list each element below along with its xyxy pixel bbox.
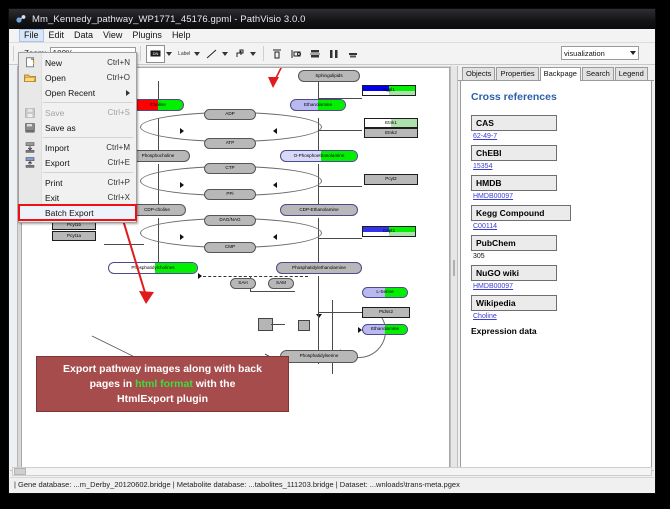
- xref-link[interactable]: HMDB00097: [473, 193, 643, 200]
- node-o-phosphoethanolamine[interactable]: O-Phosphoethanolamine: [280, 150, 358, 162]
- node-label: Ptdss2: [379, 310, 393, 315]
- xref-source: CAS: [471, 115, 557, 131]
- edge: [318, 130, 362, 131]
- xref-kegg-compound: Kegg Compound C00114: [471, 205, 643, 230]
- menu-item-shortcut: Ctrl+X: [108, 193, 136, 202]
- node-label: Etnk1: [385, 121, 397, 126]
- line-tool-button[interactable]: [204, 46, 221, 62]
- title-bar: Mm_Kennedy_pathway_WP1771_45176.gpml - P…: [9, 9, 655, 29]
- node-atp[interactable]: ATP: [204, 138, 256, 149]
- menu-item-export[interactable]: Export Ctrl+E: [19, 155, 136, 170]
- node-label: CTP: [225, 166, 234, 171]
- node-cmp[interactable]: CMP: [204, 242, 256, 253]
- node-label: Ethanolamine: [304, 103, 332, 108]
- pathvisio-app-icon: [15, 13, 27, 25]
- tab-legend[interactable]: Legend: [615, 67, 648, 80]
- node-label: CDP-Ethanolamine: [299, 208, 338, 213]
- callout-line2-after: with the: [193, 378, 236, 390]
- arrow-icon: [180, 182, 184, 188]
- menu-item-shortcut: Ctrl+M: [106, 143, 136, 152]
- node-label: CDP-choline: [144, 208, 170, 213]
- menu-item-save-as[interactable]: Save as: [19, 120, 136, 135]
- callout-line3: HtmlExport plugin: [117, 393, 208, 405]
- node-label: L-Serine: [376, 290, 393, 295]
- arrow-icon: [198, 273, 202, 279]
- edge: [104, 244, 144, 245]
- chevron-down-icon: [630, 51, 636, 55]
- node-choline-top[interactable]: Choline: [132, 99, 184, 111]
- xref-chebi: ChEBI 15354: [471, 145, 643, 170]
- arrow-icon: [180, 128, 184, 134]
- node-label: Etnk2: [385, 131, 397, 136]
- xref-value: 305: [473, 253, 643, 260]
- menu-item-label: New: [41, 58, 107, 68]
- node-label: ADP: [225, 112, 234, 117]
- arrow-icon: [273, 234, 277, 240]
- callout-line1: Export pathway images along with back: [63, 363, 262, 375]
- xref-link[interactable]: HMDB00097: [473, 283, 643, 290]
- export-icon: [19, 157, 41, 168]
- node-sphingolipids[interactable]: Sphingolipids: [298, 70, 360, 82]
- xref-link[interactable]: 15354: [473, 163, 643, 170]
- xref-pubchem: PubChem 305: [471, 235, 643, 260]
- menu-help[interactable]: Help: [167, 29, 196, 42]
- menu-item-shortcut: Ctrl+P: [108, 178, 136, 187]
- side-panel: Objects Properties Backpage Search Legen…: [458, 66, 654, 470]
- new-document-icon: [19, 57, 41, 68]
- menu-plugins[interactable]: Plugins: [127, 29, 167, 42]
- node-l-serine[interactable]: L-Serine: [362, 287, 408, 298]
- datanode-tool-button[interactable]: DN: [146, 45, 165, 63]
- tab-properties[interactable]: Properties: [496, 67, 538, 80]
- node-etnk1[interactable]: Etnk1: [364, 118, 418, 128]
- node-sah[interactable]: SAH: [230, 278, 256, 289]
- xref-link[interactable]: Choline: [473, 313, 643, 320]
- node-sgpl1[interactable]: Sgpl1: [362, 85, 416, 96]
- label-tool-button[interactable]: Label: [176, 46, 193, 62]
- node-ptdss2[interactable]: Ptdss2: [362, 307, 410, 318]
- menu-item-open-recent[interactable]: Open Recent: [19, 85, 136, 100]
- menu-item-print[interactable]: Print Ctrl+P: [19, 175, 136, 190]
- xref-source: Wikipedia: [471, 295, 557, 311]
- menu-item-label: Save: [41, 108, 108, 118]
- menu-edit[interactable]: Edit: [44, 29, 70, 42]
- menu-item-batch-export[interactable]: Batch Export: [19, 205, 136, 220]
- xref-source: NuGO wiki: [471, 265, 557, 281]
- node-ctp[interactable]: CTP: [204, 163, 256, 174]
- menu-item-save[interactable]: Save Ctrl+S: [19, 105, 136, 120]
- node-label: O-Phosphoethanolamine: [294, 154, 345, 159]
- node-label: ATP: [226, 141, 235, 146]
- node-sam[interactable]: SAM: [268, 278, 294, 289]
- xref-source: Kegg Compound: [471, 205, 571, 221]
- edge: [318, 186, 362, 187]
- node-phosphatidylethanolamine[interactable]: Phosphatidylethanolamine: [276, 262, 362, 274]
- node-label: Pcyt2: [385, 177, 397, 182]
- receptor-tool-button[interactable]: [232, 46, 249, 62]
- menu-item-shortcut: Ctrl+E: [108, 158, 136, 167]
- node-label: DAG/NAG: [219, 218, 240, 223]
- menu-file[interactable]: File: [19, 29, 44, 42]
- left-toolstrip[interactable]: [10, 66, 18, 470]
- node-label: Pcyt1b: [67, 223, 81, 228]
- node-ethanolamine-top[interactable]: Ethanolamine: [290, 99, 346, 111]
- node-pcyt1a[interactable]: Pcyt1a: [52, 231, 96, 241]
- svg-text:DN: DN: [152, 51, 158, 56]
- callout-line2-highlight: html format: [135, 378, 193, 390]
- menu-item-label: Open Recent: [41, 88, 126, 98]
- scrollbar-thumb[interactable]: [14, 468, 26, 475]
- backpage-content: Cross references CAS 62-49-7 ChEBI 15354…: [460, 81, 652, 468]
- callout-text: Export pathway images along with back pa…: [63, 362, 262, 407]
- arrow-icon: [273, 128, 277, 134]
- menu-item-label: Print: [41, 178, 108, 188]
- pathvisio-window: Mm_Kennedy_pathway_WP1771_45176.gpml - P…: [8, 8, 656, 494]
- node-phosphatidylcholines[interactable]: Phosphatidylcholines: [108, 262, 198, 274]
- open-folder-icon: [19, 73, 41, 83]
- expression-data-heading: Expression data: [471, 326, 643, 336]
- chevron-down-icon[interactable]: [250, 52, 256, 56]
- xref-link[interactable]: C00114: [473, 223, 643, 230]
- menu-view[interactable]: View: [98, 29, 127, 42]
- splitter-grip: [453, 260, 455, 276]
- menu-bar[interactable]: File Edit Data View Plugins Help: [9, 29, 655, 43]
- node-label: Pcyt1a: [67, 234, 81, 239]
- chevron-down-icon[interactable]: [166, 52, 172, 56]
- node-label: Phosphocholine: [142, 154, 175, 159]
- submenu-arrow-icon: [126, 90, 130, 96]
- align-left-tool-button[interactable]: [288, 46, 305, 62]
- menu-item-exit[interactable]: Exit Ctrl+X: [19, 190, 136, 205]
- node-label: Ethanolamine: [371, 327, 399, 332]
- menu-separator: [43, 137, 133, 138]
- screenshot-root: Mm_Kennedy_pathway_WP1771_45176.gpml - P…: [0, 0, 670, 509]
- visualization-combobox[interactable]: visualization: [561, 46, 639, 60]
- side-panel-tabs[interactable]: Objects Properties Backpage Search Legen…: [458, 66, 654, 81]
- save-disk-icon: [19, 108, 41, 118]
- edge: [318, 218, 319, 266]
- callout-line2-before: pages in: [90, 378, 136, 390]
- node-label: CMP: [225, 245, 235, 250]
- edge: [250, 291, 295, 292]
- node-label: SAM: [276, 281, 286, 286]
- annotation-callout: Export pathway images along with back pa…: [36, 356, 289, 412]
- toolbar-separator: [140, 46, 141, 61]
- panel-splitter[interactable]: [450, 66, 458, 470]
- menu-item-label: Exit: [41, 193, 108, 203]
- edge: [318, 238, 362, 239]
- menu-item-label: Open: [41, 73, 107, 83]
- distribute-vertical-tool-button[interactable]: [307, 46, 324, 62]
- arrow-icon: [273, 182, 277, 188]
- menu-separator: [43, 102, 133, 103]
- horizontal-scrollbar[interactable]: [12, 467, 652, 476]
- menu-item-new[interactable]: New Ctrl+N: [19, 55, 136, 70]
- save-as-icon: [19, 123, 41, 133]
- node-label: Sgpl1: [383, 88, 395, 93]
- menu-item-label: Batch Export: [41, 208, 136, 218]
- edge: [332, 364, 333, 374]
- menu-data[interactable]: Data: [69, 29, 98, 42]
- menu-item-label: Import: [41, 143, 106, 153]
- status-bar: | Gene database: ...m_Derby_20120602.bri…: [10, 470, 654, 492]
- tab-search[interactable]: Search: [582, 67, 614, 80]
- distribute-horizontal-tool-button[interactable]: [326, 46, 343, 62]
- file-menu-dropdown[interactable]: New Ctrl+N Open Ctrl+O Open Recent: [18, 52, 137, 223]
- chevron-down-icon[interactable]: [194, 52, 200, 56]
- visualization-value: visualization: [564, 49, 605, 58]
- status-text: | Gene database: ...m_Derby_20120602.bri…: [10, 477, 654, 492]
- menu-item-shortcut: Ctrl+N: [107, 58, 136, 67]
- backpage-title: Cross references: [471, 91, 643, 103]
- node-phosphatidylserine[interactable]: Phosphatidylserine: [280, 350, 358, 363]
- chevron-down-icon[interactable]: [222, 52, 228, 56]
- menu-item-open[interactable]: Open Ctrl+O: [19, 70, 136, 85]
- menu-item-shortcut: Ctrl+S: [108, 108, 136, 117]
- node-label: Phosphatidylserine: [300, 354, 339, 359]
- xref-link[interactable]: 62-49-7: [473, 133, 643, 140]
- node-ppi[interactable]: PPi: [204, 189, 256, 200]
- xref-hmdb: HMDB HMDB00097: [471, 175, 643, 200]
- arrow-icon: [180, 234, 184, 240]
- node-label: SAH: [238, 281, 247, 286]
- node-cept1[interactable]: Cept1: [362, 226, 416, 237]
- receptor-node[interactable]: [298, 320, 310, 331]
- node-label: Phosphatidylcholines: [131, 266, 174, 271]
- xref-source: PubChem: [471, 235, 557, 251]
- edge: [271, 324, 285, 325]
- xref-cas: CAS 62-49-7: [471, 115, 643, 140]
- import-icon: [19, 142, 41, 153]
- node-label: Phosphatidylethanolamine: [292, 266, 346, 271]
- toolbar-separator: [263, 46, 264, 61]
- menu-item-label: Save as: [41, 123, 130, 133]
- menu-item-import[interactable]: Import Ctrl+M: [19, 140, 136, 155]
- tab-objects[interactable]: Objects: [462, 67, 495, 80]
- menu-item-label: Export: [41, 158, 108, 168]
- xref-wikipedia: Wikipedia Choline: [471, 295, 643, 320]
- menu-separator: [43, 172, 133, 173]
- node-etnk2[interactable]: Etnk2: [364, 128, 418, 138]
- xref-source: HMDB: [471, 175, 557, 191]
- menu-item-shortcut: Ctrl+O: [107, 73, 136, 82]
- node-cdp-ethanolamine[interactable]: CDP-Ethanolamine: [280, 204, 358, 216]
- xref-nugo-wiki: NuGO wiki HMDB00097: [471, 265, 643, 290]
- node-label: Choline: [150, 103, 166, 108]
- toolbar-separator: [13, 46, 14, 61]
- node-ethanolamine-right[interactable]: Ethanolamine: [362, 324, 408, 335]
- node-label: Sphingolipids: [315, 74, 342, 79]
- edge-dashed: [198, 276, 308, 277]
- stack-tool-button[interactable]: [345, 46, 362, 62]
- node-adp[interactable]: ADP: [204, 109, 256, 120]
- xref-source: ChEBI: [471, 145, 557, 161]
- align-top-tool-button[interactable]: [269, 46, 286, 62]
- tab-backpage[interactable]: Backpage: [540, 67, 581, 81]
- window-title: Mm_Kennedy_pathway_WP1771_45176.gpml - P…: [32, 14, 306, 25]
- node-label: Cept1: [383, 229, 395, 234]
- node-dag-nag[interactable]: DAG/NAG: [204, 215, 256, 226]
- node-pcyt2[interactable]: Pcyt2: [364, 174, 418, 185]
- node-label: PPi: [226, 192, 233, 197]
